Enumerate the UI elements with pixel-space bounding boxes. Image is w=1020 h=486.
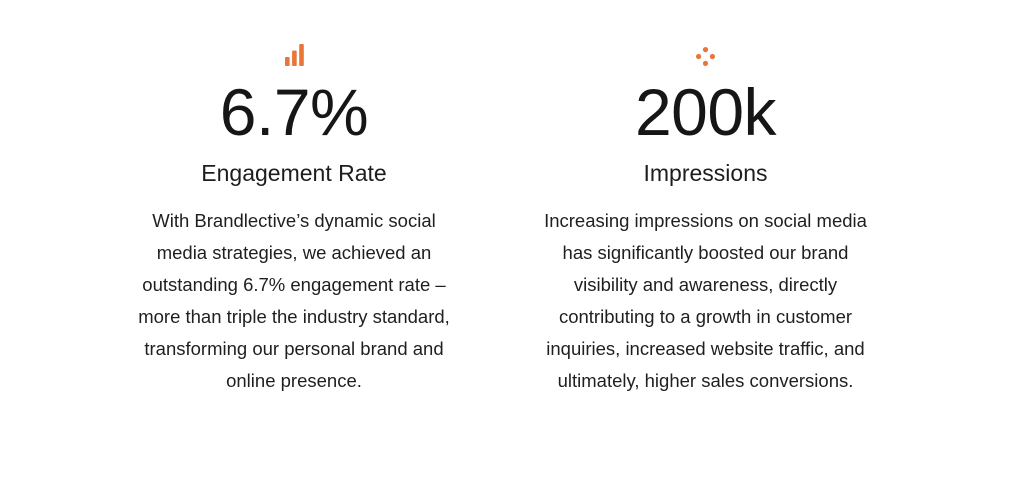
stat-value-engagement: 6.7% [220,78,368,147]
stat-card-impressions: 200k Impressions Increasing impressions … [500,40,1000,397]
stat-value-impressions: 200k [635,78,776,147]
stats-section: 6.7% Engagement Rate With Brandlective’s… [0,0,1020,486]
stat-description-impressions: Increasing impressions on social media h… [542,205,870,397]
bar-chart-icon [285,44,304,66]
stat-label-engagement: Engagement Rate [201,160,386,188]
bar-chart-icon-wrapper [285,40,304,66]
stat-label-impressions: Impressions [644,160,768,188]
stat-description-engagement: With Brandlective’s dynamic social media… [129,205,459,397]
four-dots-diamond-icon-wrapper [696,40,715,66]
four-dots-diamond-icon [696,47,715,66]
stat-card-engagement: 6.7% Engagement Rate With Brandlective’s… [0,40,500,397]
